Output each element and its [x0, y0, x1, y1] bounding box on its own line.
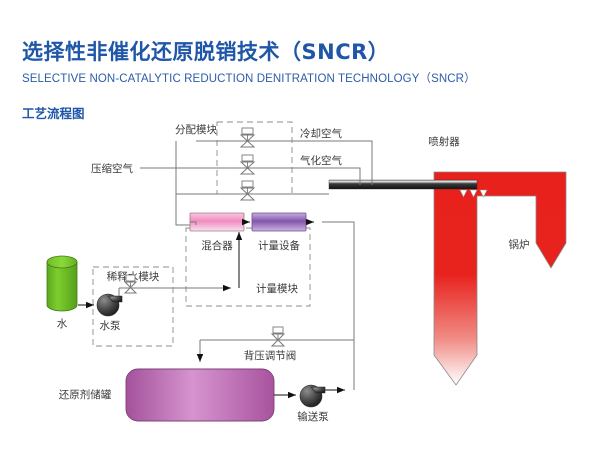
- reductant-storage-tank: 还原剂储罐: [59, 369, 274, 421]
- gasification-air-label: 气化空气: [300, 154, 342, 167]
- injector-label: 喷射器: [428, 135, 460, 148]
- air-supply-legs: [350, 141, 372, 185]
- valve-atomizing-air: [176, 181, 329, 200]
- dilution-water-module: 稀释水模块 水泵: [93, 267, 173, 346]
- mixer-label: 混合器: [201, 239, 233, 252]
- water-pump: 水泵: [97, 294, 122, 332]
- water-label: 水: [57, 318, 68, 330]
- compressed-air-label: 压缩空气: [91, 162, 133, 175]
- reductant-tank-label: 还原剂储罐: [59, 388, 112, 401]
- boiler-unit: 锅炉: [434, 172, 566, 385]
- metering-device-label: 计量设备: [258, 239, 300, 252]
- process-flow-diagram: 锅炉 喷射器 分配模块: [0, 0, 600, 450]
- metering-module: 混合器 计量设备 计量模块: [186, 213, 314, 306]
- transfer-pump-label: 输送泵: [297, 410, 329, 423]
- back-pressure-valve: 背压调节阀: [244, 327, 354, 362]
- water-pump-label: 水泵: [100, 320, 121, 332]
- metering-module-label: 计量模块: [256, 282, 298, 295]
- transfer-pump: 输送泵: [274, 385, 329, 423]
- slide-canvas: 选择性非催化还原脱销技术（SNCR） SELECTIVE NON-CATALYT…: [0, 0, 600, 450]
- cooling-air-label: 冷却空气: [300, 127, 342, 140]
- water-tank: 水: [47, 256, 94, 330]
- back-pressure-valve-label: 背压调节阀: [244, 349, 297, 362]
- injector-lance: 喷射器: [329, 135, 487, 197]
- distribution-module-label: 分配模块: [175, 124, 217, 136]
- mixer-vessel: [190, 213, 244, 231]
- metering-device-vessel: [252, 213, 306, 231]
- boiler-label: 锅炉: [509, 239, 530, 251]
